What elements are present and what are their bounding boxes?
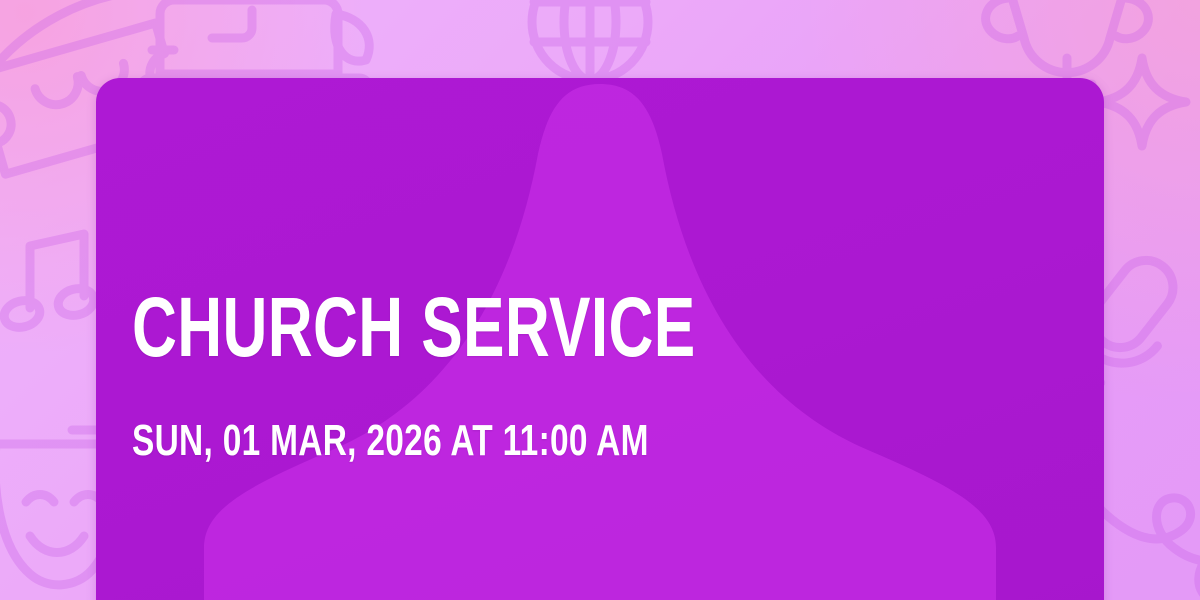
event-title: CHURCH SERVICE xyxy=(132,284,696,370)
music-note-icon xyxy=(1,234,96,331)
card-text-block: CHURCH SERVICE SUN, 01 MAR, 2026 AT 11:0… xyxy=(132,78,1032,600)
event-banner: CHURCH SERVICE SUN, 01 MAR, 2026 AT 11:0… xyxy=(0,0,1200,600)
globe-icon xyxy=(532,0,648,80)
sparkle-icon xyxy=(1098,58,1186,146)
event-datetime: SUN, 01 MAR, 2026 AT 11:00 AM xyxy=(132,418,649,464)
trophy-icon xyxy=(986,0,1149,84)
event-card: CHURCH SERVICE SUN, 01 MAR, 2026 AT 11:0… xyxy=(96,78,1104,600)
